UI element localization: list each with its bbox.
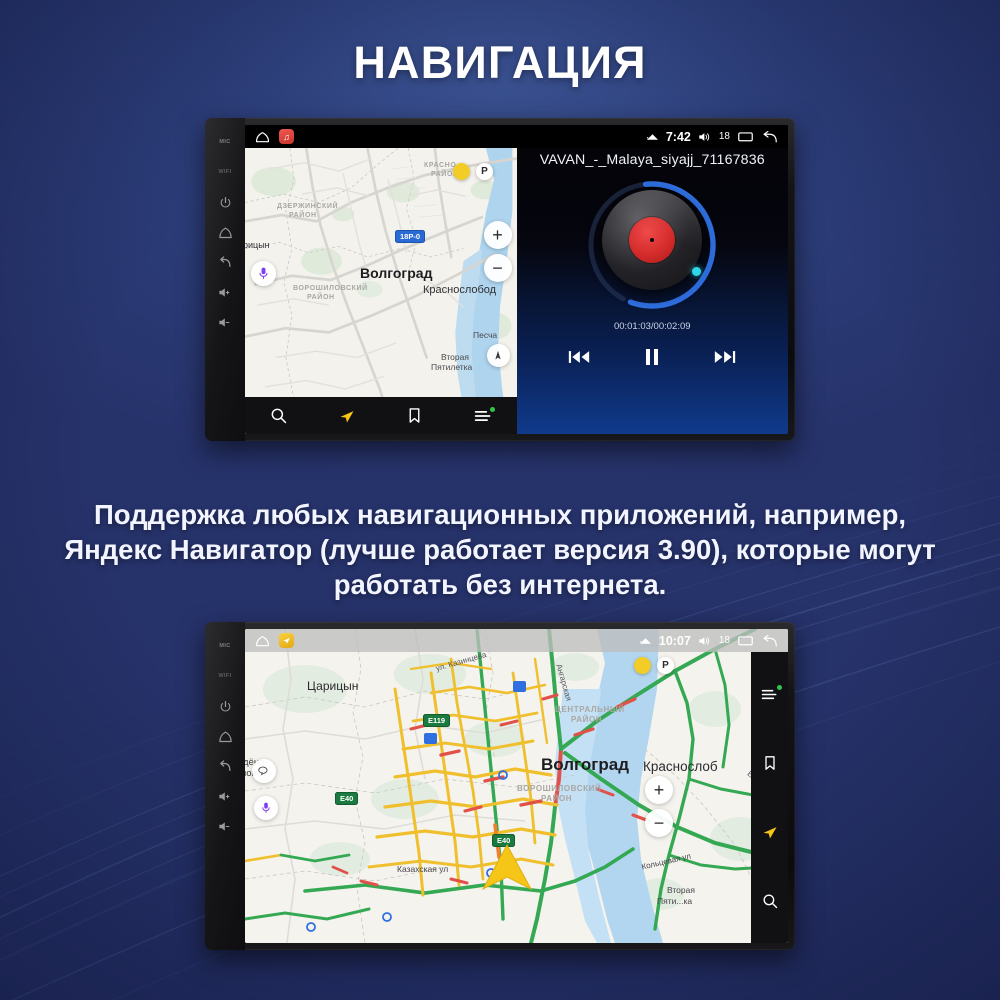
navigation-arrow-icon	[481, 843, 533, 893]
back-icon[interactable]	[761, 130, 779, 144]
back-icon[interactable]	[761, 634, 779, 648]
page-caption: Поддержка любых навигационных приложений…	[60, 497, 940, 602]
poi-icon[interactable]	[513, 681, 526, 692]
zoom-out-button[interactable]: −	[645, 809, 673, 837]
map-menu-button[interactable]	[753, 680, 787, 708]
compass-button[interactable]	[487, 344, 510, 367]
home-icon	[218, 226, 233, 239]
search-icon	[762, 893, 778, 909]
poi-icon[interactable]	[424, 733, 437, 744]
vinyl-label	[629, 217, 675, 263]
skip-previous-icon	[568, 349, 590, 365]
menu-icon	[761, 688, 778, 701]
vinyl-spindle	[650, 238, 654, 242]
map-vector-top	[245, 148, 517, 434]
chat-button[interactable]	[252, 759, 276, 783]
wifi-label-bottom: WIFI	[208, 661, 242, 691]
wifi-icon	[646, 131, 659, 142]
statusbar-top: ♫ 7:42 18	[245, 125, 788, 148]
home-icon	[218, 730, 233, 743]
volume-up-button-top[interactable]	[208, 277, 242, 307]
screen-bottom: 10:07 18 Царицын дёно-	[245, 629, 788, 943]
map-toolbar-top	[245, 397, 517, 434]
head-unit-top: MIC WIFI	[205, 118, 795, 441]
menu-badge-dot	[777, 685, 782, 690]
head-unit-bottom: MIC WIFI	[205, 622, 795, 950]
map-search-button[interactable]	[753, 887, 787, 915]
player-controls	[517, 343, 789, 371]
power-button-bottom[interactable]	[208, 691, 242, 721]
zoom-in-button[interactable]: +	[645, 776, 673, 804]
statusbar-bottom: 10:07 18	[245, 629, 788, 652]
volume-down-icon	[218, 316, 233, 329]
power-button-top[interactable]	[208, 187, 242, 217]
yandex-nav-icon[interactable]	[279, 633, 294, 648]
statusbar-volume-level: 18	[719, 635, 730, 646]
statusbar-time: 10:07	[659, 634, 691, 648]
previous-track-button[interactable]	[562, 343, 596, 371]
traffic-icon[interactable]	[634, 657, 651, 674]
statusbar-volume-level: 18	[719, 131, 730, 142]
mic-icon	[258, 267, 269, 280]
recents-icon[interactable]	[737, 634, 754, 647]
road-shield: Е119	[423, 714, 450, 727]
hardware-bezel-bottom: MIC WIFI	[205, 622, 245, 950]
volume-up-button-bottom[interactable]	[208, 781, 242, 811]
home-icon[interactable]	[254, 635, 271, 647]
music-player-pane[interactable]: VAVAN_-_Malaya_siyajj_71167836 00:01:03/…	[517, 125, 789, 434]
compass-icon	[494, 350, 502, 361]
music-app-icon[interactable]: ♫	[279, 129, 294, 144]
parking-button[interactable]: P	[476, 163, 493, 180]
volume-down-icon	[218, 820, 233, 833]
track-title: VAVAN_-_Malaya_siyajj_71167836	[517, 152, 789, 168]
map-search-button[interactable]	[262, 402, 296, 430]
screen-top: ♫ 7:42 18	[245, 125, 788, 434]
menu-icon	[474, 409, 492, 423]
back-icon	[218, 759, 233, 773]
home-button-top[interactable]	[208, 217, 242, 247]
map-toolbar-bottom	[751, 652, 788, 943]
playback-time: 00:01:03/00:02:09	[517, 321, 789, 332]
skip-next-icon	[714, 349, 736, 365]
map-pane-top[interactable]: ДЗЕРЖИНСКИЙ РАЙОН КРАСНО РАЙОН ВОРОШИЛОВ…	[245, 148, 517, 434]
album-art-vinyl[interactable]	[584, 177, 720, 313]
volume-up-icon	[218, 790, 233, 803]
voice-search-button[interactable]	[254, 796, 278, 820]
navigation-arrow-icon	[761, 823, 779, 841]
map-navigate-button[interactable]	[753, 818, 787, 846]
recents-icon[interactable]	[737, 130, 754, 143]
wifi-label-top: WIFI	[208, 157, 242, 187]
bookmark-icon	[763, 755, 777, 771]
search-icon	[270, 407, 287, 424]
menu-badge-dot	[490, 407, 495, 412]
home-icon[interactable]	[254, 131, 271, 143]
parking-button[interactable]: P	[657, 657, 674, 674]
road-shield: Е40	[335, 792, 358, 805]
volume-icon[interactable]	[698, 635, 712, 647]
map-menu-button[interactable]	[466, 402, 500, 430]
volume-down-button-top[interactable]	[208, 307, 242, 337]
zoom-in-button[interactable]: +	[484, 221, 512, 249]
statusbar-time: 7:42	[666, 130, 691, 144]
map-bookmarks-button[interactable]	[398, 402, 432, 430]
chat-icon	[258, 766, 270, 776]
pause-button[interactable]	[635, 343, 669, 371]
back-icon	[218, 255, 233, 269]
navigation-arrow-icon	[338, 407, 356, 425]
map-canvas-top[interactable]: ДЗЕРЖИНСКИЙ РАЙОН КРАСНО РАЙОН ВОРОШИЛОВ…	[245, 148, 517, 434]
current-position-arrow	[481, 843, 533, 898]
zoom-out-button[interactable]: −	[484, 254, 512, 282]
wifi-icon	[639, 635, 652, 646]
progress-handle[interactable]	[692, 267, 701, 276]
home-button-bottom[interactable]	[208, 721, 242, 751]
map-bookmarks-button[interactable]	[753, 749, 787, 777]
bookmark-icon	[407, 407, 422, 424]
traffic-icon[interactable]	[453, 163, 470, 180]
volume-down-button-bottom[interactable]	[208, 811, 242, 841]
back-button-top[interactable]	[208, 247, 242, 277]
power-icon	[219, 700, 232, 713]
road-shield: 18Р-0	[395, 230, 425, 243]
page-title: НАВИГАЦИЯ	[0, 37, 1000, 89]
next-track-button[interactable]	[708, 343, 742, 371]
volume-icon[interactable]	[698, 131, 712, 143]
mic-label-top: MIC	[208, 127, 242, 157]
map-canvas-bottom[interactable]: 10:07 18 Царицын дёно-	[245, 629, 788, 943]
navigation-arrow-icon	[282, 636, 291, 645]
back-button-bottom[interactable]	[208, 751, 242, 781]
power-icon	[219, 196, 232, 209]
mic-label-bottom: MIC	[208, 631, 242, 661]
voice-search-button[interactable]	[251, 261, 276, 286]
mic-icon	[261, 802, 271, 814]
hardware-bezel-top: MIC WIFI	[205, 118, 245, 441]
vinyl-disc	[602, 190, 702, 290]
map-navigate-button[interactable]	[330, 402, 364, 430]
pause-icon	[644, 348, 660, 366]
volume-up-icon	[218, 286, 233, 299]
